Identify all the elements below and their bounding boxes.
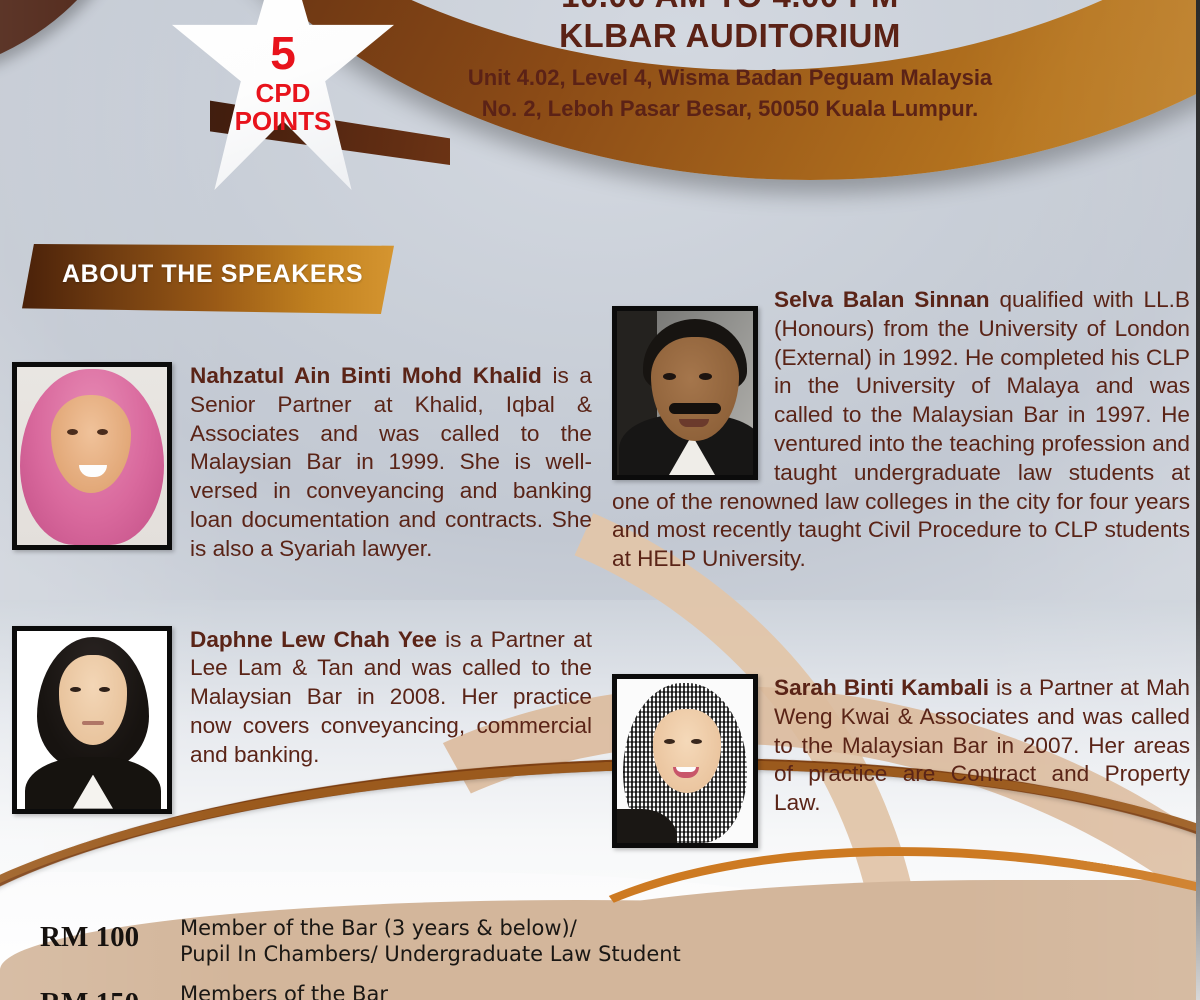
portrait-illustration [617, 311, 753, 475]
speaker-name-nahzatul: Nahzatul Ain Binti Mohd Khalid [190, 363, 542, 388]
speaker-card-daphne: Daphne Lew Chah Yee is a Partner at Lee … [12, 564, 592, 770]
speaker-name-selva: Selva Balan Sinnan [774, 287, 990, 312]
speaker-card-selva: Selva Balan Sinnan qualified with LL.B (… [612, 286, 1190, 574]
cpd-points-number: 5 [172, 30, 394, 76]
fee-description-line: Pupil In Chambers/ Undergraduate Law Stu… [180, 941, 681, 967]
speaker-card-sarah: Sarah Binti Kambali is a Partner at Mah … [612, 574, 1190, 818]
event-address-line-1: Unit 4.02, Level 4, Wisma Badan Peguam M… [380, 62, 1080, 93]
speaker-name-daphne: Daphne Lew Chah Yee [190, 627, 437, 652]
cpd-points-badge: 5 CPD POINTS [172, 0, 394, 190]
speaker-card-nahzatul: Nahzatul Ain Binti Mohd Khalid is a Seni… [12, 300, 592, 564]
speaker-photo-nahzatul [12, 362, 172, 550]
portrait-illustration [17, 631, 167, 809]
fee-row: RM 150 Members of the Bar [40, 981, 800, 1000]
fee-amount: RM 100 [40, 915, 180, 954]
speaker-photo-daphne [12, 626, 172, 814]
event-time: 10.00 AM TO 4.00 PM [380, 0, 1080, 15]
about-speakers-label: ABOUT THE SPEAKERS [62, 260, 402, 289]
speakers-column-right: Selva Balan Sinnan qualified with LL.B (… [612, 286, 1190, 854]
speaker-photo-selva [612, 306, 758, 480]
speaker-bio-body: is a Senior Partner at Khalid, Iqbal & A… [190, 363, 592, 561]
decorative-right-edge-line [1196, 0, 1200, 1000]
fee-amount: RM 150 [40, 981, 180, 1000]
fee-description: Members of the Bar [180, 981, 388, 1000]
fee-row: RM 100 Member of the Bar (3 years & belo… [40, 915, 800, 967]
cpd-label-line-2: POINTS [172, 108, 394, 134]
fee-description-line: Member of the Bar (3 years & below)/ [180, 915, 681, 941]
portrait-illustration [17, 367, 167, 545]
cpd-label-line-1: CPD [172, 80, 394, 106]
event-header: 10.00 AM TO 4.00 PM KLBAR AUDITORIUM Uni… [380, 0, 1080, 124]
fee-description: Member of the Bar (3 years & below)/ Pup… [180, 915, 681, 967]
speaker-photo-sarah [612, 674, 758, 848]
fee-description-line: Members of the Bar [180, 981, 388, 1000]
event-address-line-2: No. 2, Leboh Pasar Besar, 50050 Kuala Lu… [380, 93, 1080, 124]
fees-table: RM 100 Member of the Bar (3 years & belo… [40, 915, 800, 1000]
event-venue: KLBAR AUDITORIUM [380, 17, 1080, 56]
poster-canvas: 10.00 AM TO 4.00 PM KLBAR AUDITORIUM Uni… [0, 0, 1200, 1000]
portrait-illustration [617, 679, 753, 843]
cpd-badge-text: 5 CPD POINTS [172, 30, 394, 134]
speakers-column-left: Nahzatul Ain Binti Mohd Khalid is a Seni… [12, 300, 592, 822]
speaker-name-sarah: Sarah Binti Kambali [774, 675, 989, 700]
